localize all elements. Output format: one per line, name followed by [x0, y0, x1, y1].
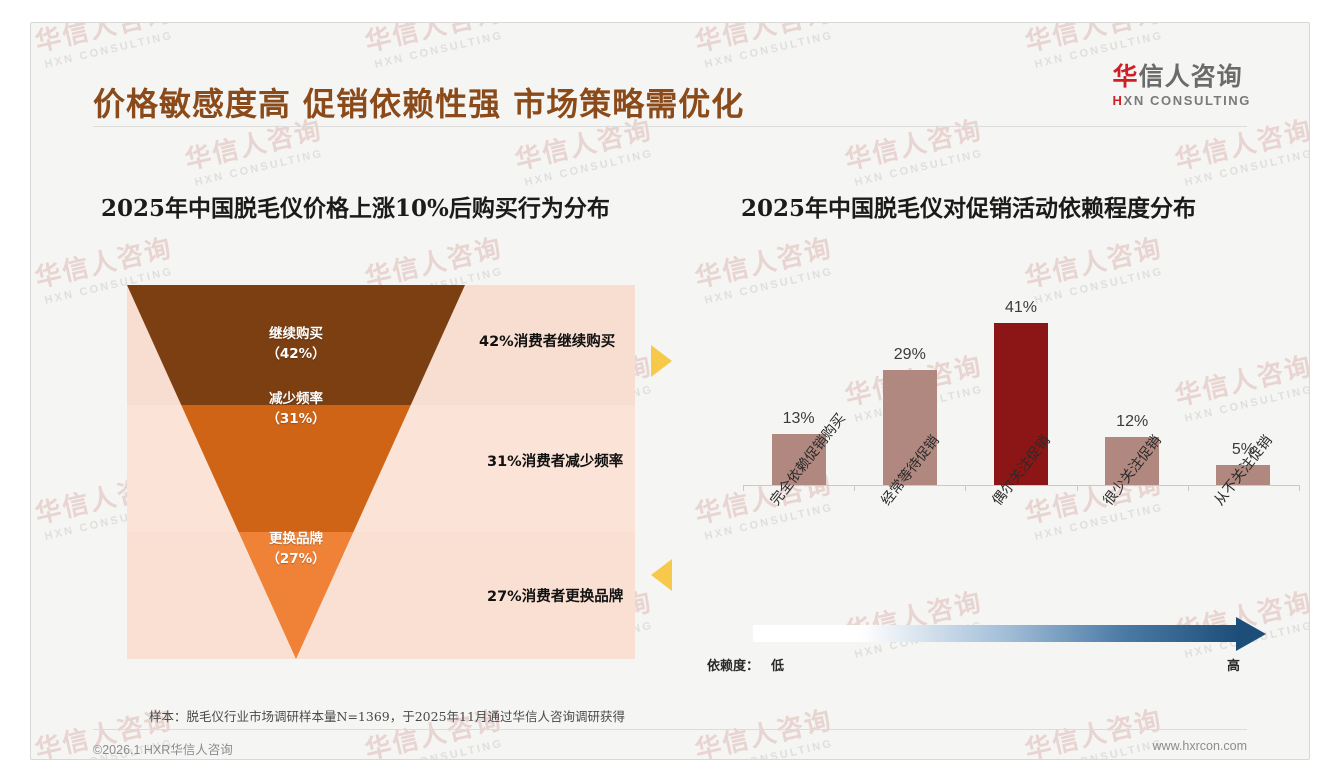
- axis-tick: [743, 485, 744, 491]
- footer-divider: [93, 729, 1247, 730]
- funnel-segment-name: 继续购买: [127, 325, 465, 345]
- source-footnote: 样本：脱毛仪行业市场调研样本量N=1369，于2025年11月通过华信人咨询调研…: [149, 706, 625, 725]
- triangle-left-icon: [651, 559, 672, 591]
- funnel-segment-value: （27%）: [127, 550, 465, 570]
- logo-english-first-char: H: [1113, 93, 1124, 108]
- dependency-gradient-legend: [753, 621, 1273, 647]
- slide-canvas: 华信人咨询HXN CONSULTING华信人咨询HXN CONSULTING华信…: [30, 22, 1310, 760]
- funnel-annotation: 31%消费者减少频率: [487, 450, 623, 471]
- funnel-chart: 继续购买（42%）减少频率（31%）更换品牌（27%）42%消费者继续购买31%…: [127, 285, 635, 659]
- legend-low-label: 低: [771, 655, 784, 674]
- watermark-tile: 华信人咨询HXN CONSULTING: [1171, 110, 1309, 190]
- slide-header: 价格敏感度高 促销依赖性强 市场策略需优化 华信人咨询 HXN CONSULTI…: [31, 23, 1309, 121]
- bar-value-label: 41%: [981, 299, 1061, 317]
- funnel-segment-label: 减少频率（31%）: [127, 390, 465, 429]
- funnel-segment-name: 减少频率: [127, 390, 465, 410]
- funnel-annotation: 42%消费者继续购买: [479, 330, 615, 351]
- logo-english-rest: XN CONSULTING: [1124, 93, 1251, 108]
- funnel-segment-label: 更换品牌（27%）: [127, 530, 465, 569]
- axis-tick: [854, 485, 855, 491]
- page-title: 价格敏感度高 促销依赖性强 市场策略需优化: [93, 79, 744, 125]
- watermark-tile: 华信人咨询HXN CONSULTING: [841, 110, 989, 190]
- gradient-arrow-head-icon: [1236, 617, 1266, 651]
- website-text: www.hxrcon.com: [1153, 739, 1247, 753]
- axis-tick: [1077, 485, 1078, 491]
- legend-title: 依赖度：: [707, 655, 759, 674]
- bar-value-label: 12%: [1092, 413, 1172, 431]
- funnel-segment-label: 继续购买（42%）: [127, 325, 465, 364]
- header-divider: [93, 126, 1247, 127]
- left-chart-title: 2025年中国脱毛仪价格上涨10%后购买行为分布: [101, 189, 610, 223]
- logo-chinese: 华信人咨询: [1113, 63, 1251, 91]
- brand-logo: 华信人咨询 HXN CONSULTING: [1113, 63, 1251, 108]
- gradient-bar: [753, 625, 1238, 642]
- funnel-segment-name: 更换品牌: [127, 530, 465, 550]
- axis-tick: [965, 485, 966, 491]
- axis-tick: [1188, 485, 1189, 491]
- triangle-right-icon: [651, 345, 672, 377]
- logo-chinese-first-char: 华: [1113, 62, 1139, 91]
- bar-value-label: 29%: [870, 346, 950, 364]
- funnel-annotation: 27%消费者更换品牌: [487, 585, 623, 606]
- copyright-text: ©2026.1 HXR华信人咨询: [93, 739, 233, 758]
- funnel-segment-value: （42%）: [127, 345, 465, 365]
- axis-tick: [1299, 485, 1300, 491]
- funnel-segment-value: （31%）: [127, 410, 465, 430]
- right-chart-title: 2025年中国脱毛仪对促销活动依赖程度分布: [741, 189, 1196, 223]
- logo-chinese-rest: 信人咨询: [1139, 62, 1243, 91]
- logo-english: HXN CONSULTING: [1113, 93, 1251, 108]
- legend-high-label: 高: [1227, 655, 1240, 674]
